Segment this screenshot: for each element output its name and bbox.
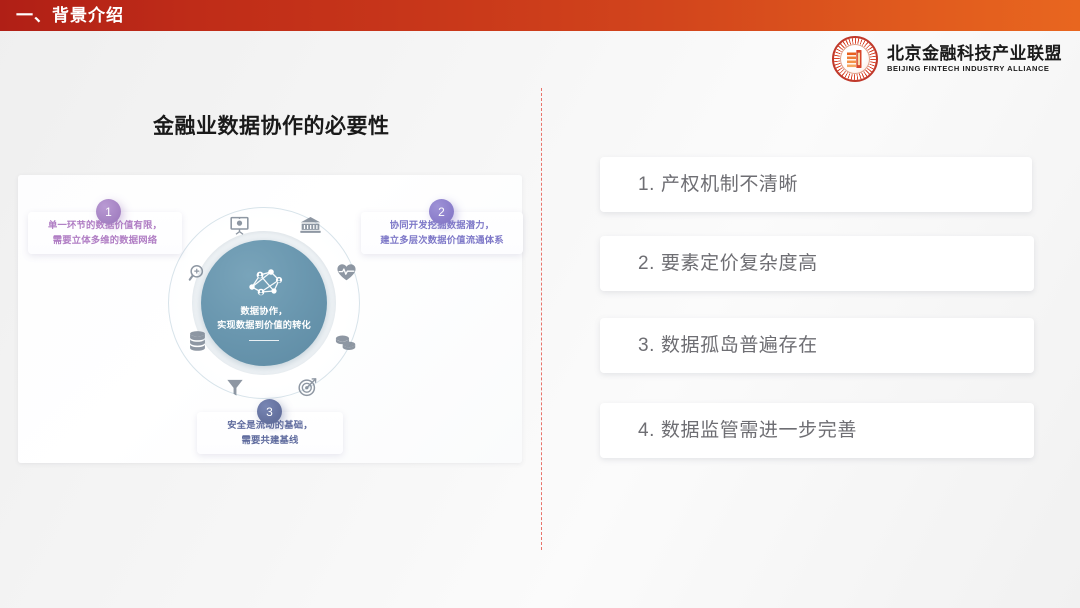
issue-label-3: 3. 数据孤岛普遍存在 [600,336,818,355]
filter-funnel-icon [226,378,244,398]
issue-label-2: 2. 要素定价复杂度高 [600,254,818,273]
issue-card-3[interactable]: 3. 数据孤岛普遍存在 [600,318,1034,373]
issue-card-4[interactable]: 4. 数据监管需进一步完善 [600,403,1034,458]
target-goal-icon [297,377,318,398]
page-title: 一、背景介绍 [16,7,124,24]
magnifier-search-icon [188,263,209,284]
callout-2-line2: 建立多层次数据价值流通体系 [380,235,503,245]
issue-card-1[interactable]: 1. 产权机制不清晰 [600,157,1032,212]
issue-card-2[interactable]: 2. 要素定价复杂度高 [600,236,1034,291]
callout-badge-1: 1 [96,199,121,224]
network-nodes-icon [241,265,287,299]
core-underline [249,340,279,341]
diagram-outer-ring: 数据协作， 实现数据到价值的转化 [168,207,360,399]
brand-logo: 北京金融科技产业联盟 BEIJING FINTECH INDUSTRY ALLI… [832,36,1062,82]
core-text-line2: 实现数据到价值的转化 [217,318,311,332]
callout-badge-2: 2 [429,199,454,224]
callout-1-line2: 需要立体多维的数据网络 [53,235,157,245]
database-stack-icon [188,330,207,351]
issue-label-4: 4. 数据监管需进一步完善 [600,421,857,440]
section-title-left: 金融业数据协作的必要性 [153,113,390,140]
bank-building-icon [299,215,322,235]
logo-name-en: BEIJING FINTECH INDUSTRY ALLIANCE [887,65,1062,73]
diagram-core-circle: 数据协作， 实现数据到价值的转化 [201,240,327,366]
issue-label-1: 1. 产权机制不清晰 [600,175,798,194]
emblem-building-glyph [847,50,864,69]
logo-name-cn: 北京金融科技产业联盟 [887,45,1062,62]
logo-wordmark: 北京金融科技产业联盟 BEIJING FINTECH INDUSTRY ALLI… [887,45,1062,73]
vertical-dashed-divider [541,88,542,550]
heartbeat-icon [336,263,357,282]
core-text-line1: 数据协作， [241,304,288,318]
coins-money-icon [334,332,357,351]
alliance-emblem-icon [832,36,878,82]
header-bar: 一、背景介绍 [0,0,1080,31]
presentation-chart-icon [229,215,250,236]
diagram-middle-ring: 数据协作， 实现数据到价值的转化 [192,231,336,375]
callout-3-line2: 需要共建基线 [242,435,299,445]
callout-badge-3: 3 [257,399,282,424]
